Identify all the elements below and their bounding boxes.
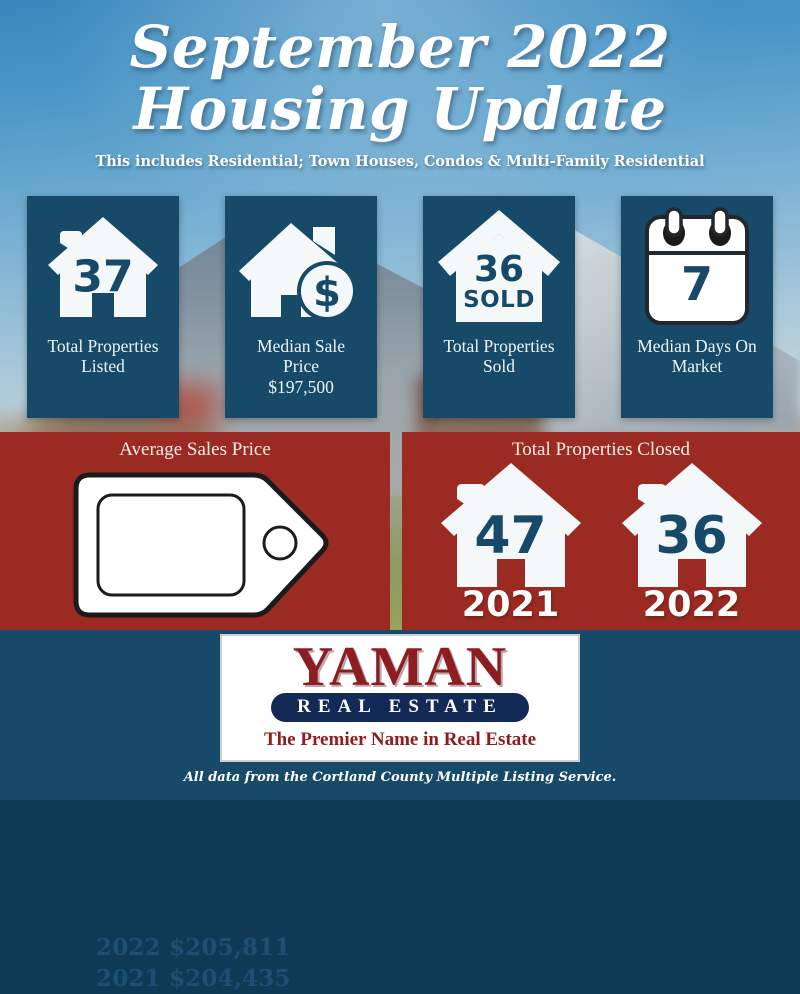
- calendar-icon: 7: [621, 196, 773, 336]
- stat-card-median-price: $ Median Sale Price $197,500: [225, 196, 377, 418]
- stat-label-line2: Listed: [47, 356, 158, 376]
- page-title-line1: September 2022: [0, 0, 800, 76]
- average-sales-panel: Average Sales Price: [0, 432, 390, 630]
- price-tag-icon: [0, 461, 390, 621]
- stat-label-median-price: Median Sale Price $197,500: [251, 336, 351, 397]
- house-sold-icon: 36 SOLD: [423, 196, 575, 336]
- stat-label-line1: Median Days On: [637, 336, 757, 356]
- house-icon: 37: [27, 196, 179, 336]
- closed-item-2022: 36 2022: [618, 459, 766, 625]
- stat-card-total-listed: 37 Total Properties Listed: [27, 196, 179, 418]
- stat-cards-row: 37 Total Properties Listed $ Median Sa: [0, 196, 800, 424]
- page-title-line2: Housing Update: [0, 76, 800, 138]
- stat-card-days-on-market: 7 Median Days On Market: [621, 196, 773, 418]
- average-sales-values: 2022 $205,811 2021 $204,435: [96, 932, 291, 994]
- stat-label-line1: Total Properties: [443, 336, 554, 356]
- logo-brand-text: YAMAN: [293, 640, 507, 695]
- stat-label-line1: Median Sale: [257, 336, 345, 356]
- page-subtitle: This includes Residential; Town Houses, …: [0, 153, 800, 170]
- stat-label-total-listed: Total Properties Listed: [41, 336, 164, 377]
- average-sales-row-2021: 2021 $204,435: [96, 963, 291, 994]
- closed-houses-row: 47 2021 36 2022: [402, 459, 800, 625]
- footer: YAMAN REAL ESTATE The Premier Name in Re…: [0, 630, 800, 800]
- closed-item-2021: 47 2021: [437, 459, 585, 625]
- closed-value-2021: 47: [437, 506, 585, 566]
- price-tag-icon-svg: [58, 469, 332, 621]
- stat-value-total-sold: 36: [436, 252, 562, 288]
- red-band: Average Sales Price 2022 $205,811 2021 $…: [0, 432, 800, 630]
- stat-value-total-listed: 37: [44, 251, 162, 302]
- data-source-note: All data from the Cortland County Multip…: [184, 770, 617, 785]
- stat-label-days-on-market: Median Days On Market: [631, 336, 763, 377]
- total-closed-title: Total Properties Closed: [402, 432, 800, 461]
- average-sales-row-2022: 2022 $205,811: [96, 932, 291, 963]
- yaman-logo: YAMAN REAL ESTATE The Premier Name in Re…: [220, 634, 580, 762]
- house-dollar-icon: $: [225, 196, 377, 336]
- stat-label-line2: Market: [637, 356, 757, 376]
- stat-card-total-sold: 36 SOLD Total Properties Sold: [423, 196, 575, 418]
- logo-tagline: The Premier Name in Real Estate: [264, 729, 536, 751]
- stat-value-sold-suffix: SOLD: [436, 288, 562, 312]
- closed-value-2022: 36: [618, 506, 766, 566]
- svg-text:$: $: [313, 270, 341, 316]
- stat-label-line2: Sold: [443, 356, 554, 376]
- stat-label-line1: Total Properties: [47, 336, 158, 356]
- average-sales-title: Average Sales Price: [0, 432, 390, 461]
- total-closed-panel: Total Properties Closed 47 2021: [402, 432, 800, 630]
- logo-brand-subtext: REAL ESTATE: [271, 693, 529, 722]
- house-dollar-icon-svg: $: [239, 213, 363, 325]
- stat-value-median-price: $197,500: [257, 377, 345, 397]
- stat-value-days-on-market: 7: [637, 257, 757, 311]
- stat-label-total-sold: Total Properties Sold: [437, 336, 560, 377]
- stat-label-line2: Price: [257, 356, 345, 376]
- header: September 2022 Housing Update This inclu…: [0, 0, 800, 196]
